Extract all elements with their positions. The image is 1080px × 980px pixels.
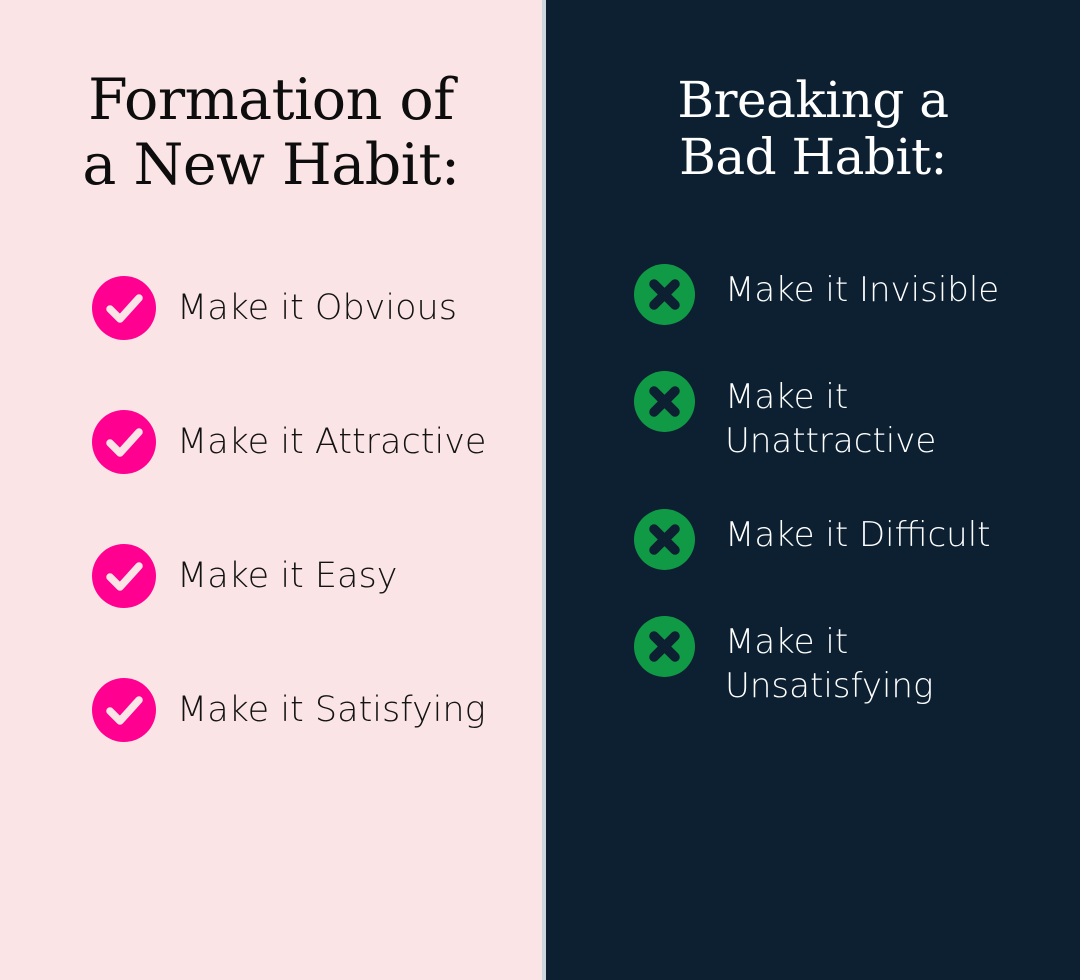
list-item-label: Make it Invisible — [725, 269, 999, 313]
bad-habit-heading-line-1: Breaking a — [566, 72, 1060, 129]
list-item: Make it Invisible — [634, 262, 1080, 325]
bad-habit-heading-line-2: Bad Habit: — [566, 129, 1060, 186]
cross-circle-icon — [634, 264, 695, 325]
new-habit-heading-line-1: Formation of — [20, 68, 522, 133]
list-item: Make it Unattractive — [634, 369, 1080, 463]
bad-habit-heading: Breaking a Bad Habit: — [546, 0, 1080, 186]
check-circle-icon — [92, 544, 156, 608]
new-habit-heading-line-2: a New Habit: — [20, 133, 522, 198]
list-item-label: Make it Satisfying — [177, 688, 486, 733]
cross-circle-icon — [634, 371, 695, 432]
list-item-label: Make it Easy — [177, 554, 397, 599]
cross-circle-icon — [634, 509, 695, 570]
list-item: Make it Satisfying — [92, 678, 542, 742]
list-item-label: Make it Unsatisfying — [725, 621, 1025, 708]
list-item: Make it Attractive — [92, 410, 542, 474]
check-circle-icon — [92, 276, 156, 340]
new-habit-list: Make it Obvious Make it Attractive Make … — [0, 198, 542, 742]
list-item-label: Make it Attractive — [177, 420, 486, 465]
list-item: Make it Difficult — [634, 507, 1080, 570]
cross-circle-icon — [634, 616, 695, 677]
list-item: Make it Unsatisfying — [634, 614, 1080, 708]
list-item: Make it Easy — [92, 544, 542, 608]
new-habit-heading: Formation of a New Habit: — [0, 0, 542, 198]
bad-habit-list: Make it Invisible Make it Unattractive M… — [546, 186, 1080, 708]
list-item-label: Make it Unattractive — [725, 376, 1025, 463]
bad-habit-panel: Breaking a Bad Habit: Make it Invisible — [546, 0, 1080, 980]
check-circle-icon — [92, 678, 156, 742]
check-circle-icon — [92, 410, 156, 474]
habit-comparison-infographic: Formation of a New Habit: Make it Obviou… — [0, 0, 1080, 980]
list-item-label: Make it Difficult — [725, 514, 990, 558]
list-item-label: Make it Obvious — [177, 286, 457, 331]
list-item: Make it Obvious — [92, 276, 542, 340]
new-habit-panel: Formation of a New Habit: Make it Obviou… — [0, 0, 542, 980]
